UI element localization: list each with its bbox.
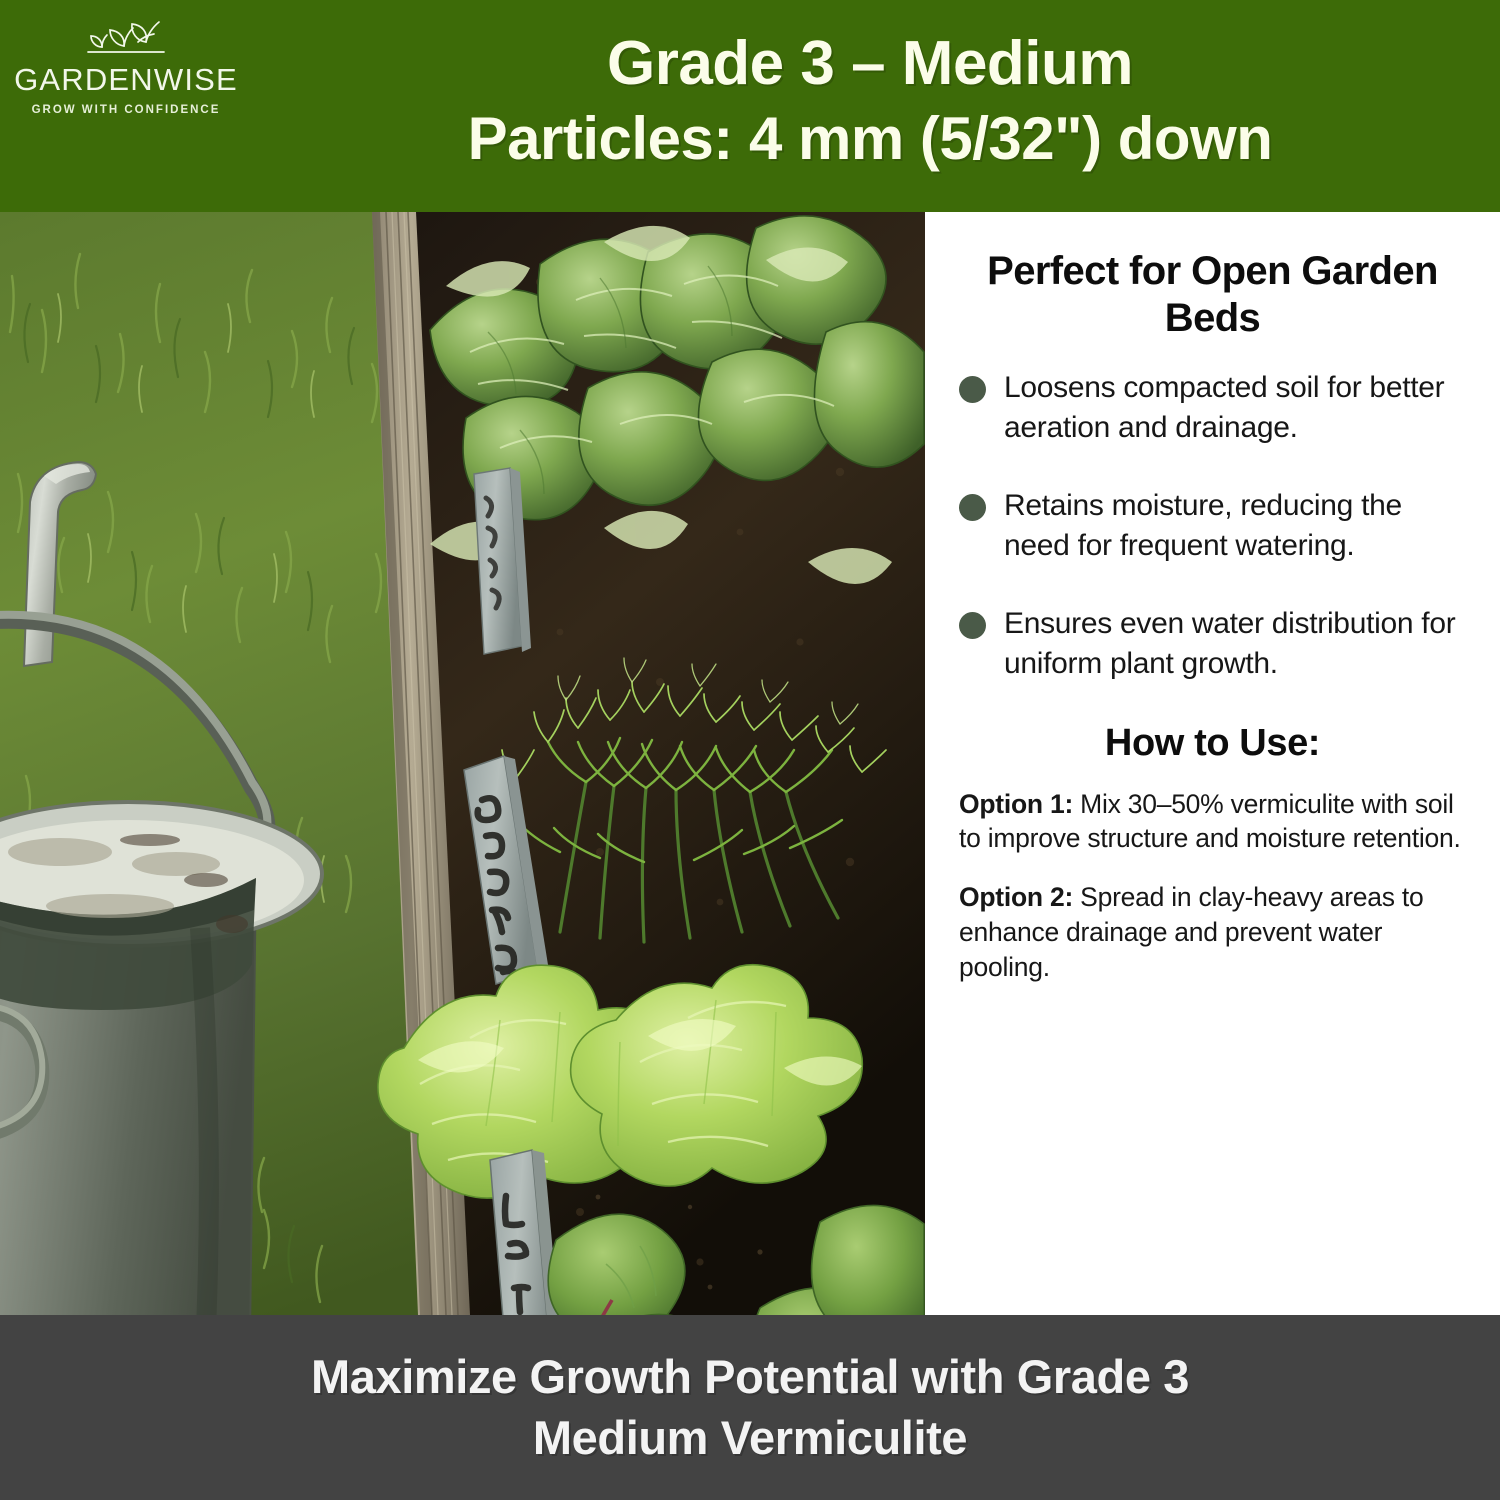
brand-tagline: GROW WITH CONFIDENCE [32,104,221,116]
product-photo [0,212,925,1315]
benefits-panel: Perfect for Open Garden Beds Loosens com… [925,212,1500,1315]
option-2-label: Option 2: [959,882,1073,912]
header-title-line1: Grade 3 – Medium [250,26,1490,102]
header-title-line2: Particles: 4 mm (5/32") down [250,102,1490,175]
infographic-page: GARDENWISE GROW WITH CONFIDENCE Grade 3 … [0,0,1500,1500]
footer-banner: Maximize Growth Potential with Grade 3 M… [0,1315,1500,1500]
benefit-text: Loosens compacted soil for better aerati… [1004,368,1466,448]
bullet-dot-icon [959,376,986,403]
list-item: Retains moisture, reducing the need for … [959,486,1466,566]
header-banner: GARDENWISE GROW WITH CONFIDENCE Grade 3 … [0,0,1500,212]
header-title: Grade 3 – Medium Particles: 4 mm (5/32")… [250,26,1490,175]
three-leaf-sprout-icon [66,14,186,62]
benefit-text: Ensures even water distribution for unif… [1004,604,1466,684]
garden-scene-illustration [0,212,925,1315]
list-item: Ensures even water distribution for unif… [959,604,1466,684]
bullet-dot-icon [959,612,986,639]
bullet-dot-icon [959,494,986,521]
howto-heading: How to Use: [959,722,1466,765]
footer-text: Maximize Growth Potential with Grade 3 M… [311,1347,1189,1467]
panel-heading: Perfect for Open Garden Beds [959,248,1466,342]
brand-logo: GARDENWISE GROW WITH CONFIDENCE [10,14,242,116]
benefit-text: Retains moisture, reducing the need for … [1004,486,1466,566]
list-item: Loosens compacted soil for better aerati… [959,368,1466,448]
benefits-list: Loosens compacted soil for better aerati… [959,368,1466,683]
option-1: Option 1: Mix 30–50% vermiculite with so… [959,787,1466,856]
option-1-label: Option 1: [959,789,1073,819]
footer-line2: Medium Vermiculite [311,1408,1189,1468]
brand-name: GARDENWISE [14,64,238,95]
option-2: Option 2: Spread in clay-heavy areas to … [959,880,1466,984]
footer-line1: Maximize Growth Potential with Grade 3 [311,1347,1189,1407]
